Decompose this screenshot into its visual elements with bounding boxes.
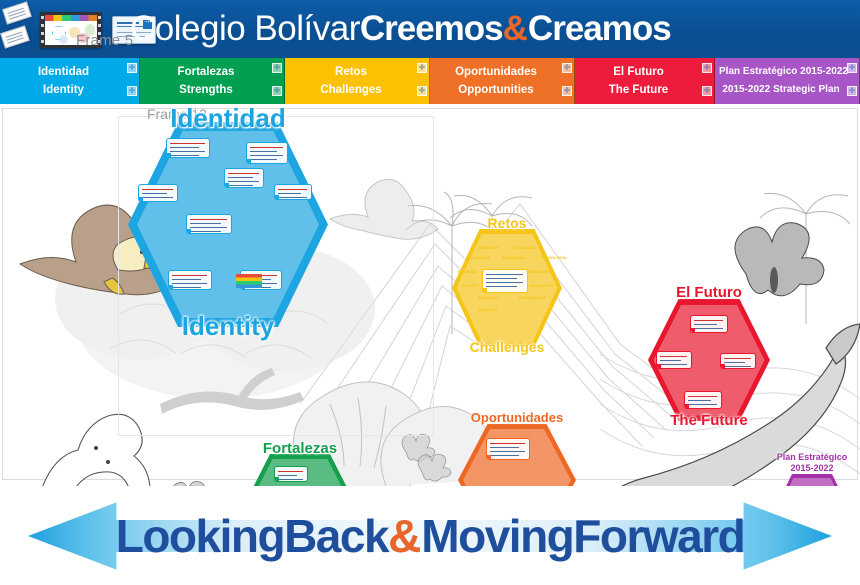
perforation [98, 24, 101, 27]
card-text-line [190, 231, 221, 232]
tab-expand-icon[interactable] [847, 86, 857, 96]
challenge-keyword: ECONOMÍA [502, 255, 524, 260]
card-text-line [278, 197, 307, 198]
perforation [98, 16, 101, 19]
corner-note-icons [2, 2, 36, 54]
card-text-line [486, 282, 523, 283]
card-text-line [694, 320, 723, 321]
card-handle[interactable] [656, 364, 661, 369]
sticky-note-card[interactable] [274, 184, 312, 200]
hexagon-label-line: Plan Estratégico [662, 452, 860, 463]
hexagon-outline [772, 474, 852, 486]
card-handle[interactable] [168, 285, 173, 290]
sticky-note-card[interactable] [486, 438, 530, 460]
card-text-line [228, 177, 253, 178]
card-handle[interactable] [684, 404, 689, 409]
tab-label-en: Strengths [140, 81, 284, 99]
challenge-keyword: EDUCACIÓN [466, 255, 490, 260]
card-text-line [250, 159, 277, 160]
card-text-line [170, 143, 205, 144]
card-text-line [142, 189, 173, 190]
footer-text-1: LookingBack [116, 509, 388, 563]
challenge-keyword: ECONOMY [478, 295, 499, 300]
card-text-line [172, 275, 207, 276]
card-handle[interactable] [186, 229, 191, 234]
card-text-line [660, 356, 687, 357]
card-text-line [694, 332, 717, 333]
sticky-note-card[interactable] [720, 353, 756, 369]
note-card-icon [2, 1, 32, 24]
perforation [41, 40, 44, 43]
card-text-line [142, 193, 167, 194]
sticky-note-card[interactable] [186, 214, 232, 234]
card-handle[interactable] [274, 477, 279, 482]
sticky-note-card[interactable] [168, 270, 212, 290]
double-arrow-banner: LookingBack & MovingForward [28, 496, 832, 576]
tab-challenges[interactable]: RetosChallenges [285, 58, 430, 104]
card-text-line [142, 201, 167, 202]
hexagon-strengths[interactable]: FortalezasStrengths [240, 454, 360, 486]
color-swatch [236, 274, 262, 288]
card-text-line [660, 360, 681, 361]
tab-expand-icon[interactable] [272, 63, 282, 73]
challenge-keyword: TECHNOLOGY [518, 295, 546, 300]
card-text-line [190, 227, 227, 228]
card-text-line [228, 181, 259, 182]
tab-expand-icon[interactable] [702, 63, 712, 73]
section-tab-bar[interactable]: IdentidadIdentityFortalezasStrengthsReto… [0, 58, 860, 104]
tab-label-en: Challenges [285, 81, 429, 99]
tab-expand-icon[interactable] [562, 86, 572, 96]
card-text-line [172, 279, 201, 280]
tab-strengths[interactable]: FortalezasStrengths [140, 58, 285, 104]
challenge-keyword: SOCIEDAD [514, 245, 535, 250]
card-text-line [490, 455, 519, 456]
card-handle[interactable] [274, 195, 279, 200]
card-text-line [172, 287, 201, 288]
card-text-line [250, 155, 283, 156]
tab-label-en: Identity [0, 81, 139, 99]
note-card-icon [0, 25, 30, 48]
card-text-line [694, 328, 723, 329]
card-text-line [490, 447, 519, 448]
card-text-line [228, 173, 259, 174]
perforation [41, 24, 44, 27]
challenge-keyword: AMBIENTE [478, 245, 499, 250]
tab-label-es: Retos [285, 63, 429, 81]
sticky-note-card[interactable] [138, 184, 178, 202]
card-text-line [250, 151, 277, 152]
card-text-line [688, 400, 711, 401]
card-text-line [142, 197, 173, 198]
footer-banner: LookingBack & MovingForward [0, 486, 860, 585]
hexagon-label: Fortalezas [150, 440, 450, 457]
challenge-keyword: TECNOLOGÍA [540, 255, 567, 260]
card-text-line [486, 278, 517, 279]
hexagon-opportunities[interactable]: OportunidadesOpportunities [458, 424, 576, 486]
tab-label-es: Plan Estratégico 2015-2022 [715, 63, 859, 81]
hexagon-fill [776, 478, 849, 487]
challenge-keyword: SOCIETY [462, 283, 480, 288]
tab-expand-icon[interactable] [272, 86, 282, 96]
perforation [41, 16, 44, 19]
footer-text-2: MovingForward [421, 509, 744, 563]
slide-canvas: Frame 12 IdentidadIdentityFortalezasStre… [0, 104, 860, 486]
presentation-canvas-app: Frame 5 Colegio Bolívar Creemos & Creamo… [0, 0, 860, 585]
card-handle[interactable] [690, 328, 695, 333]
card-text-line [278, 471, 303, 472]
tab-expand-icon[interactable] [127, 86, 137, 96]
card-text-line [688, 404, 717, 405]
tab-label-es: Oportunidades [430, 63, 574, 81]
hexagon-label: El Futuro [559, 284, 859, 301]
brand-slogan-2: Creamos [528, 9, 671, 49]
sticky-note-card[interactable] [690, 315, 728, 333]
tab-identity[interactable]: IdentidadIdentity [0, 58, 140, 104]
color-band [45, 15, 97, 21]
card-text-line [170, 151, 205, 152]
card-text-line [724, 362, 745, 363]
card-text-line [172, 283, 207, 284]
app-header: Frame 5 Colegio Bolívar Creemos & Creamo… [0, 0, 860, 58]
card-handle[interactable] [720, 364, 725, 369]
challenge-keyword: EQUALITY [478, 307, 498, 312]
sticky-note-card[interactable] [224, 168, 264, 188]
sticky-note-card[interactable] [482, 269, 528, 293]
card-text-line [250, 147, 283, 148]
card-text-line [190, 219, 227, 220]
card-text-line [688, 408, 711, 409]
brand-title: Colegio Bolívar Creemos & Creamos [130, 2, 671, 56]
tab-label-es: Fortalezas [140, 63, 284, 81]
hexagon-the-future[interactable]: El FuturoThe Future [648, 299, 770, 421]
tab-expand-icon[interactable] [702, 86, 712, 96]
brand-name: Colegio Bolívar [130, 9, 360, 49]
card-text-line [190, 223, 221, 224]
card-text-line [278, 193, 301, 194]
blob [59, 35, 68, 44]
card-handle[interactable] [224, 183, 229, 188]
card-text-line [660, 368, 681, 369]
tab-opportunities[interactable]: OportunidadesOpportunities [430, 58, 575, 104]
tab-label-en: 2015-2022 Strategic Plan [715, 81, 859, 99]
footer-ampersand: & [388, 509, 421, 563]
sticky-note-card[interactable] [166, 138, 210, 158]
tab-expand-icon[interactable] [847, 63, 857, 73]
challenge-keyword: EDUCATION [530, 283, 553, 288]
hexagon-identity[interactable]: IdentidadIdentity [128, 122, 328, 327]
tab-strategic-plan[interactable]: Plan Estratégico 2015-20222015-2022 Stra… [715, 58, 860, 104]
hexagon-label: Identidad [78, 104, 378, 132]
card-text-line [490, 451, 525, 452]
card-text-line [486, 286, 517, 287]
card-handle[interactable] [246, 159, 251, 164]
card-text-line [724, 358, 751, 359]
tab-label-es: El Futuro [575, 63, 714, 81]
tab-label-en: Opportunities [430, 81, 574, 99]
tab-expand-icon[interactable] [417, 86, 427, 96]
sticky-note-card[interactable] [684, 391, 722, 409]
challenge-keyword: EQUIDAD [458, 269, 476, 274]
card-handle[interactable] [486, 455, 491, 460]
card-text-line [170, 155, 199, 156]
card-text-line [278, 189, 307, 190]
card-handle[interactable] [166, 153, 171, 158]
sticky-note-card[interactable] [274, 466, 308, 482]
brand-ampersand: & [503, 9, 528, 49]
hexagon-label: Challenges [357, 339, 657, 355]
hexagon-label: The Future [559, 412, 859, 429]
hexagon-label: Plan Estratégico2015-2022 [662, 452, 860, 474]
hexagon-label-line: 2015-2022 [662, 463, 860, 474]
card-text-line [688, 396, 717, 397]
tab-expand-icon[interactable] [127, 63, 137, 73]
card-text-line [724, 366, 751, 367]
tab-label-es: Identidad [0, 63, 139, 81]
card-text-line [170, 147, 199, 148]
perforation [41, 32, 44, 35]
hexagon-layer: IdentidadIdentityFortalezasStrengthsReto… [0, 104, 860, 486]
sticky-note-card[interactable] [656, 351, 692, 369]
card-text-line [660, 364, 687, 365]
challenge-keyword: ENVIRONMENT [524, 269, 554, 274]
sticky-note-card[interactable] [246, 142, 288, 164]
hexagon-strategic-plan[interactable]: Plan Estratégico2015-20222015-2022Strate… [772, 474, 852, 486]
card-text-line [228, 185, 253, 186]
brand-slogan-1: Creemos [360, 9, 503, 49]
tab-label-en: The Future [575, 81, 714, 99]
hexagon-label: Retos [357, 215, 657, 231]
tab-the-future[interactable]: El FuturoThe Future [575, 58, 715, 104]
card-text-line [694, 324, 717, 325]
card-text-line [278, 475, 297, 476]
tab-expand-icon[interactable] [417, 63, 427, 73]
footer-slogan: LookingBack & MovingForward [28, 496, 832, 576]
hexagon-challenges[interactable]: RetosChallengesAMBIENTESOCIEDADEDUCACIÓN… [452, 229, 562, 347]
card-text-line [490, 443, 525, 444]
card-text-line [278, 479, 303, 480]
card-handle[interactable] [138, 197, 143, 202]
frame-label-header: Frame 5 [76, 32, 133, 49]
tab-expand-icon[interactable] [562, 63, 572, 73]
card-text-line [486, 274, 523, 275]
card-handle[interactable] [482, 288, 487, 293]
hexagon-label: Identity [78, 312, 378, 340]
